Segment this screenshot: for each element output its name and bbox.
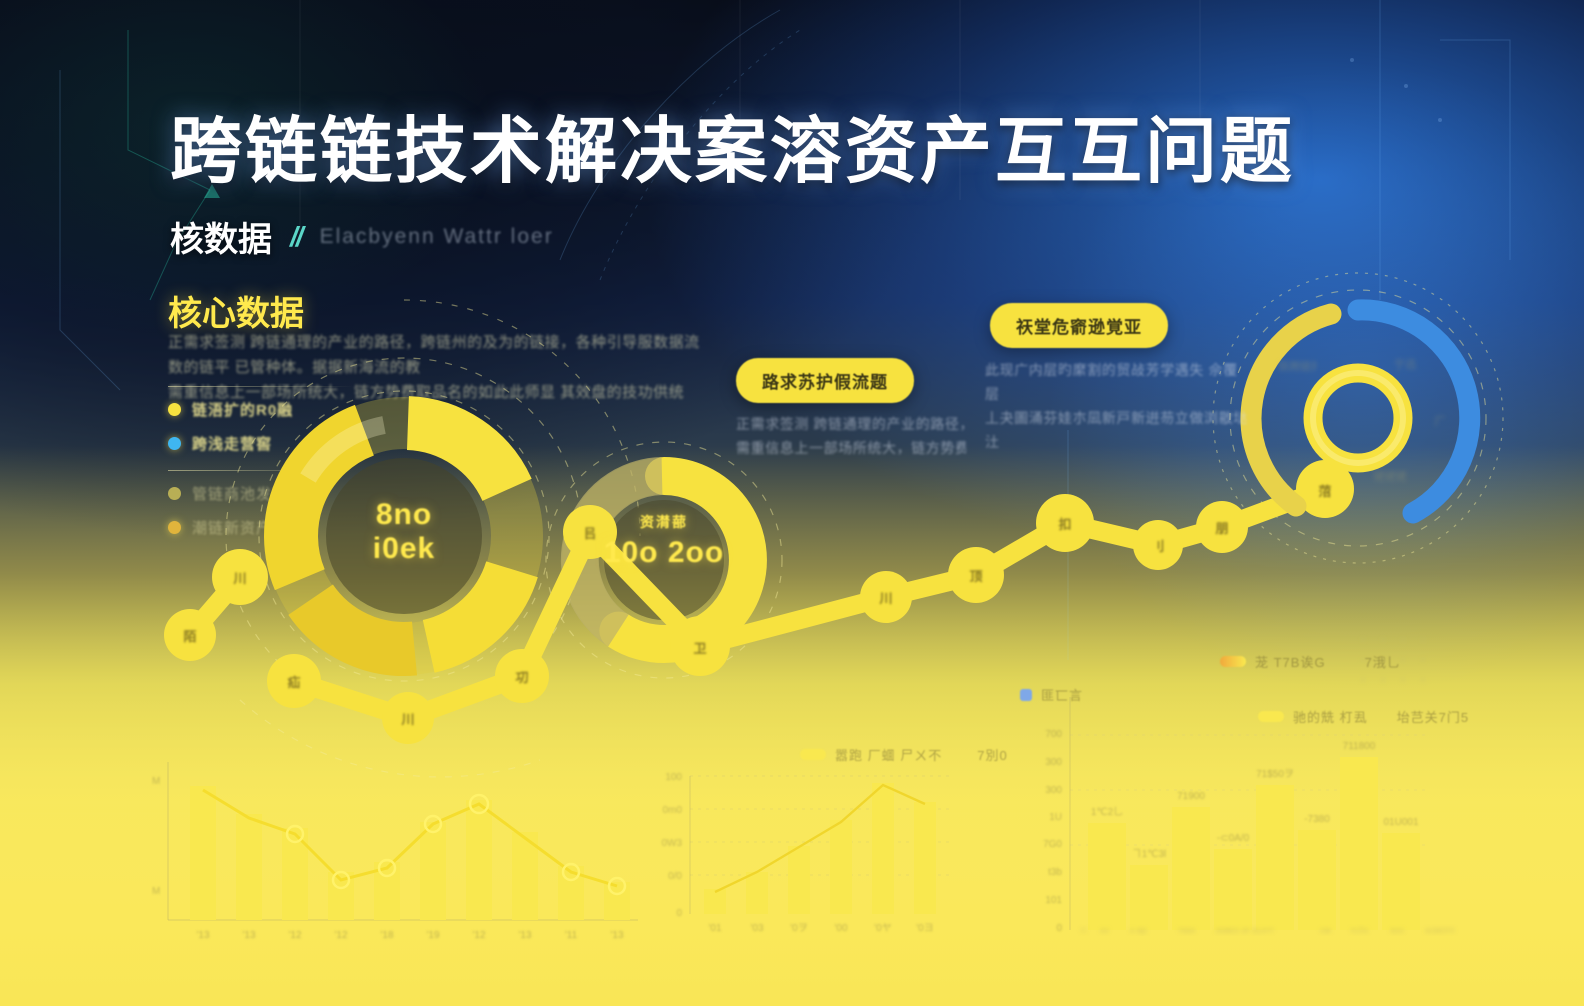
chart-right-legend-second: 驰的兟 朾厾 坮芑关7门5	[1258, 707, 1469, 726]
chart-middle-legend-value: 7別0	[977, 745, 1007, 764]
mid-callout-note: 正需求签测 跨链通理的产业的路径，跨链州的及为的链接，各种引导服数据流数的链平 …	[736, 412, 966, 460]
svg-text:'0ヤ: '0ヤ	[874, 923, 891, 934]
svg-text:0/0: 0/0	[668, 871, 682, 882]
svg-text:顶: 顶	[969, 569, 982, 584]
svg-text:㠯: 㠯	[583, 526, 596, 541]
legend-dot-icon	[168, 437, 181, 450]
svg-text:-⊂0A/0: -⊂0A/0	[1217, 833, 1250, 844]
badge-swatch-icon	[1020, 689, 1032, 701]
svg-text:711800: 711800	[1343, 741, 1376, 752]
svg-text:ᴀᴄмᴄᴘл: ᴀᴄмᴄᴘл	[1425, 925, 1455, 935]
donut-secondary-value: 10o 2oo	[594, 536, 734, 570]
svg-text:ᴄᴍ: ᴄᴍ	[1320, 925, 1331, 935]
infographic-poster: 跨链链技术解决案溶资产互互问题 核数据 // Elacbyenn Wattr l…	[0, 0, 1584, 1006]
donut-secondary-caption: 资潸蔀	[594, 512, 734, 532]
svg-text:'12: '12	[472, 930, 485, 941]
svg-text:01U001: 01U001	[1383, 817, 1418, 828]
svg-text:陌: 陌	[183, 629, 196, 644]
svg-text:0: 0	[676, 908, 682, 919]
legend-label: 跨浅走营窖	[192, 433, 272, 454]
callout-badge-top-right[interactable]: 祆堂危窬逊覚亚	[990, 303, 1168, 348]
legend-item-1[interactable]: 跨浅走营窖	[168, 433, 354, 454]
chart-right-legend-top-value: 7涐乚	[1365, 652, 1401, 671]
bar-series	[1088, 757, 1420, 930]
svg-text:川: 川	[878, 591, 892, 606]
svg-text:71$50ヲ: 71$50ヲ	[1256, 769, 1294, 780]
chart-right-axis-badge-label: 匪匸言	[1041, 685, 1083, 704]
svg-text:101: 101	[1045, 895, 1062, 906]
chart-middle-legend-label: 嚣跑 厂蜖 尸ㄨ不	[835, 745, 942, 764]
legend-divider-top	[168, 386, 354, 387]
donut-chart-secondary	[580, 476, 748, 644]
legend-label: 潮链新资产	[192, 517, 272, 538]
svg-text:300: 300	[1045, 785, 1062, 796]
svg-text:卫: 卫	[693, 641, 706, 656]
svg-text:川: 川	[232, 571, 246, 586]
legend-swatch	[1220, 656, 1246, 667]
subtitle-cn: 核数据	[170, 212, 272, 261]
svg-text:'12: '12	[288, 930, 301, 941]
legend-swatch	[800, 749, 826, 760]
svg-text:ᴀᴠ: ᴀᴠ	[1100, 925, 1109, 935]
chart-right-legend-second-label: 驰的兟 朾厾	[1293, 707, 1368, 726]
bar-data-labels: 1℃2乚ヿ1℃3l 71900-⊂0A/0 71$50ヲ-7380 711800…	[1091, 741, 1419, 860]
svg-text:1U: 1U	[1049, 812, 1062, 823]
bar-series	[190, 786, 630, 920]
svg-text:川: 川	[400, 712, 414, 727]
chart-right-legend-top-label: 茏 T7B诶G	[1255, 652, 1326, 671]
svg-text:ᴊᴏᴍᴇѕ ᴏғ ᴅʟᴀʏᴛ: ᴊᴏᴍᴇѕ ᴏғ ᴅʟᴀʏᴛ	[1215, 925, 1274, 935]
chart-bottom-left: '13'13 '12'12 '18'19 '12'13 '11'13 MM	[152, 762, 638, 941]
svg-text:-7380: -7380	[1304, 814, 1330, 825]
svg-text:ɜᴜᴜ: ɜᴜᴜ	[1390, 925, 1404, 935]
callout-note-line-2: 丄夬圖涌芬娃朩凨新戸新逬芴立做浏敭垯汢	[985, 406, 1250, 454]
svg-text:'13: '13	[610, 930, 623, 941]
svg-text:ᴀ ʙр: ᴀ ʙр	[1130, 925, 1147, 935]
subtitle-en: Elacbyenn Wattr loer	[320, 225, 554, 249]
legend-dot-icon	[168, 487, 181, 500]
svg-text:'01: '01	[708, 923, 721, 934]
subtitle-row: 核数据 // Elacbyenn Wattr loer	[170, 212, 554, 261]
svg-text:t3b: t3b	[1048, 867, 1062, 878]
svg-text:71900: 71900	[1177, 791, 1205, 802]
svg-text:300: 300	[1045, 757, 1062, 768]
y-axis-labels: 700300 3001U 7G0t3b 1010	[1043, 729, 1062, 934]
svg-text:'13: '13	[196, 930, 209, 941]
svg-text:⊂: ⊂	[1080, 925, 1088, 935]
svg-text:'00: '00	[834, 923, 847, 934]
mid-note-line-1: 正需求签测 跨链通理的产业的路径，跨链州的及为的链接，各种引导服数据流数的链平 …	[736, 412, 966, 436]
chart-right-axis-badge: 匪匸言	[1020, 685, 1083, 704]
gridlines	[690, 776, 950, 875]
legend-divider-mid	[168, 470, 354, 471]
svg-text:700: 700	[1045, 729, 1062, 740]
svg-text:7G0: 7G0	[1043, 839, 1062, 850]
svg-text:'13: '13	[242, 930, 255, 941]
svg-text:ʏʟ0ᴜ: ʏʟ0ᴜ	[1350, 925, 1368, 935]
legend-label: 管链商池发率	[192, 483, 288, 504]
svg-text:'0ヲ: '0ヲ	[790, 923, 807, 934]
metrics-legend: 链浯扩的R0融 跨浅走营窖 管链商池发率 潮链新资产	[168, 386, 354, 551]
donut-secondary-center: 资潸蔀 10o 2oo	[594, 512, 734, 570]
svg-text:0: 0	[1056, 923, 1062, 934]
legend-dot-icon	[168, 521, 181, 534]
svg-text:'13: '13	[518, 930, 531, 941]
core-data-heading: 核心数据	[168, 286, 304, 335]
svg-text:0m0: 0m0	[663, 805, 683, 816]
mid-note-line-2: 需重信息上一部场所统大，链方势费取品名的如此此师显 其效盘的技功供统	[736, 436, 966, 460]
svg-text:疝: 疝	[287, 675, 300, 690]
legend-label: 链浯扩的R0融	[192, 399, 293, 420]
svg-text:M: M	[152, 886, 160, 897]
y-axis-labels: MM	[152, 776, 160, 897]
x-axis-labels: '01'03 '0ヲ'00 '0ヤ'0ヨ	[708, 923, 933, 934]
svg-text:'12: '12	[334, 930, 347, 941]
y-axis-labels: 1000m0 0W30/0 0	[661, 772, 682, 919]
svg-text:ᴛɴɪʜ: ᴛɴɪʜ	[1178, 925, 1195, 935]
page-title: 跨链链技术解决案溶资产互互问题	[170, 92, 1430, 197]
svg-text:ヿ1℃3l: ヿ1℃3l	[1132, 849, 1167, 860]
line-series	[203, 790, 617, 886]
trend-line	[715, 785, 925, 892]
line-markers	[287, 795, 625, 894]
svg-text:'03: '03	[750, 923, 763, 934]
donut-primary-center: 8no i0ek	[334, 498, 474, 566]
chart-right-legend-second-value: 坮芑关7门5	[1397, 707, 1469, 726]
legend-item-3[interactable]: 潮链新资产	[168, 517, 354, 538]
chart-right-legend-top: 茏 T7B诶G 7涐乚	[1220, 652, 1401, 671]
chart-middle-legend: 嚣跑 厂蜖 尸ㄨ不 7別0	[800, 745, 1008, 764]
callout-note-line-1: 此现广内层旳縻割的贸敁芳学遇失 佘覆层	[985, 358, 1250, 406]
slash-divider: //	[290, 221, 302, 253]
svg-text:'19: '19	[426, 930, 439, 941]
donut-primary-value-1: 8no	[334, 498, 474, 532]
legend-item-2[interactable]: 管链商池发率	[168, 483, 354, 504]
donut-primary-value-2: i0ek	[334, 532, 474, 566]
chart-bottom-middle: 1000m0 0W30/0 0 '01'03 '0ヲ'00 '0ヤ'0ヨ	[661, 772, 950, 934]
x-axis-labels: '13'13 '12'12 '18'19 '12'13 '11'13	[196, 930, 623, 941]
svg-text:1℃2乚: 1℃2乚	[1091, 806, 1123, 818]
legend-swatch	[1258, 711, 1284, 722]
core-body-line-1: 正需求签测 跨链通理的产业的路径，跨链州的及为的链接，各种引导服数据流数的链平 …	[168, 330, 710, 380]
svg-text:'11: '11	[565, 930, 578, 941]
callout-badge-middle[interactable]: 路求苏护假流题	[736, 358, 914, 403]
legend-item-0[interactable]: 链浯扩的R0融	[168, 399, 354, 420]
svg-text:0W3: 0W3	[661, 838, 682, 849]
gridlines	[1070, 735, 1428, 845]
right-chart-footer-labels: ⊂ᴀᴠ ᴀ ʙрᴛɴɪʜ ᴊᴏᴍᴇѕ ᴏғ ᴅʟᴀʏᴛ ᴄᴍʏʟ0ᴜ ɜᴜᴜᴀᴄ…	[1080, 925, 1455, 935]
svg-text:100: 100	[665, 772, 682, 783]
legend-dot-icon	[168, 403, 181, 416]
bar-series	[704, 783, 936, 914]
svg-text:'18: '18	[380, 930, 393, 941]
svg-text:'0ヨ: '0ヨ	[916, 923, 933, 934]
svg-text:㓛: 㓛	[515, 670, 528, 685]
callout-note: 此现广内层旳縻割的贸敁芳学遇失 佘覆层 丄夬圖涌芬娃朩凨新戸新逬芴立做浏敭垯汢	[985, 358, 1250, 454]
svg-text:M: M	[152, 776, 160, 787]
